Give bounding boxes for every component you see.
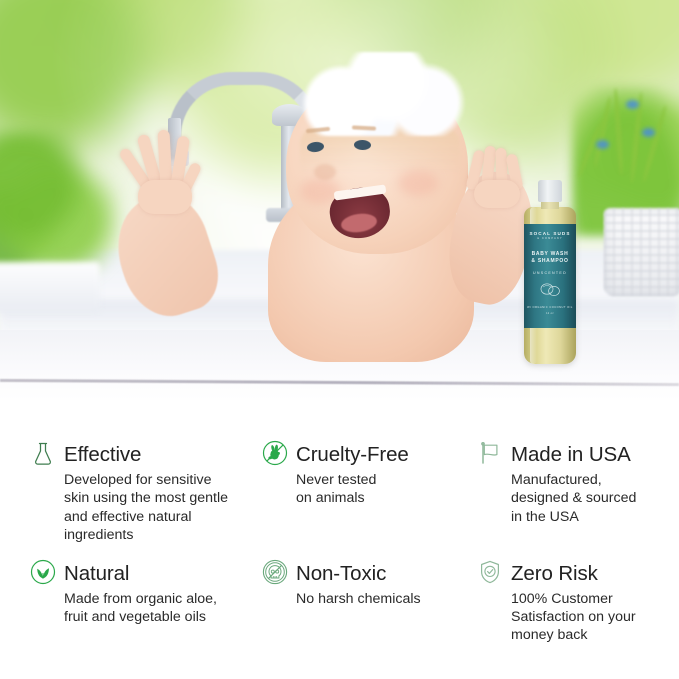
feature-description: Manufactured, designed & sourced in the …	[511, 471, 666, 526]
shield-check-icon	[473, 555, 507, 589]
desc-line: Manufactured,	[511, 471, 666, 489]
feature-description: Developed for sensitive skin using the m…	[64, 471, 258, 545]
feature-title: Natural	[64, 559, 129, 589]
desc-line: skin using the most gentle	[64, 489, 258, 507]
feature-title: Zero Risk	[511, 559, 598, 589]
baby-left-hand	[128, 128, 202, 210]
blue-flower	[626, 100, 639, 109]
features-grid: Effective Developed for sensitive skin u…	[26, 440, 666, 645]
flag-icon	[473, 436, 507, 470]
feature-made-in-usa: Made in USA Manufactured, designed & sou…	[473, 440, 666, 545]
bottle-brand-name: SOCAL SUDS	[524, 231, 576, 236]
feature-header: Cruelty-Free	[258, 440, 473, 470]
lifestyle-photo: SOCAL SUDS & COMPANY BABY WASH & SHAMPOO…	[0, 0, 679, 400]
no-skull-icon	[258, 555, 292, 589]
feature-title: Cruelty-Free	[296, 440, 409, 470]
feature-header: Zero Risk	[473, 559, 666, 589]
feature-zero-risk: Zero Risk 100% Customer Satisfaction on …	[473, 559, 666, 645]
bottle-size: 12 oz	[524, 312, 576, 315]
product-bottle: SOCAL SUDS & COMPANY BABY WASH & SHAMPOO…	[524, 180, 576, 364]
no-rabbit-icon	[258, 436, 292, 470]
feature-cruelty-free: Cruelty-Free Never tested on animals	[258, 440, 473, 545]
bubble-foam	[292, 52, 468, 136]
bottle-label: SOCAL SUDS & COMPANY BABY WASH & SHAMPOO…	[524, 224, 576, 328]
feature-description: 100% Customer Satisfaction on your money…	[511, 590, 666, 645]
desc-line: on animals	[296, 489, 473, 507]
bottle-product-line1: BABY WASH	[524, 251, 576, 257]
feature-header: Effective	[26, 440, 258, 470]
bottle-scent: UNSCENTED	[524, 271, 576, 275]
desc-line: fruit and vegetable oils	[64, 608, 258, 626]
feature-header: Non-Toxic	[258, 559, 473, 589]
desc-line: Satisfaction on your	[511, 608, 666, 626]
desc-line: Never tested	[296, 471, 473, 489]
palm	[138, 180, 192, 214]
bottle-brand-subtitle: & COMPANY	[524, 237, 576, 240]
leaf-circle-icon	[26, 555, 60, 589]
bottle-product-line2: & SHAMPOO	[524, 258, 576, 264]
feature-effective: Effective Developed for sensitive skin u…	[26, 440, 258, 545]
desc-line: money back	[511, 626, 666, 644]
desc-line: No harsh chemicals	[296, 590, 473, 608]
desc-line: ingredients	[64, 526, 258, 544]
product-infographic: SOCAL SUDS & COMPANY BABY WASH & SHAMPOO…	[0, 0, 679, 679]
basket-weave-texture	[604, 208, 679, 296]
blue-flower	[596, 140, 609, 149]
features-section: Effective Developed for sensitive skin u…	[0, 400, 679, 679]
baby-cheek	[398, 170, 438, 196]
desc-line: 100% Customer	[511, 590, 666, 608]
flask-icon	[26, 436, 60, 470]
left-plant	[0, 130, 120, 280]
coconut-illustration	[538, 280, 562, 297]
feature-header: Made in USA	[473, 440, 666, 470]
feature-non-toxic: Non-Toxic No harsh chemicals	[258, 559, 473, 645]
palm	[474, 180, 520, 208]
baby-right-hand	[466, 146, 530, 212]
feature-title: Made in USA	[511, 440, 631, 470]
desc-line: Developed for sensitive	[64, 471, 258, 489]
blue-flower	[642, 128, 655, 137]
bottle-ingredient: W/ ORGANIC COCONUT OIL	[524, 306, 576, 309]
baby-nose	[314, 164, 336, 180]
feature-header: Natural	[26, 559, 258, 589]
feature-description: Never tested on animals	[296, 471, 473, 508]
feature-title: Effective	[64, 440, 141, 470]
feature-description: Made from organic aloe, fruit and vegeta…	[64, 590, 258, 627]
desc-line: designed & sourced	[511, 489, 666, 507]
feature-title: Non-Toxic	[296, 559, 386, 589]
bottle-cap	[538, 180, 562, 202]
feature-description: No harsh chemicals	[296, 590, 473, 608]
feature-natural: Natural Made from organic aloe, fruit an…	[26, 559, 258, 645]
bottle-neck	[541, 201, 559, 209]
desc-line: and effective natural	[64, 508, 258, 526]
desc-line: in the USA	[511, 508, 666, 526]
left-planter	[0, 262, 100, 312]
desc-line: Made from organic aloe,	[64, 590, 258, 608]
